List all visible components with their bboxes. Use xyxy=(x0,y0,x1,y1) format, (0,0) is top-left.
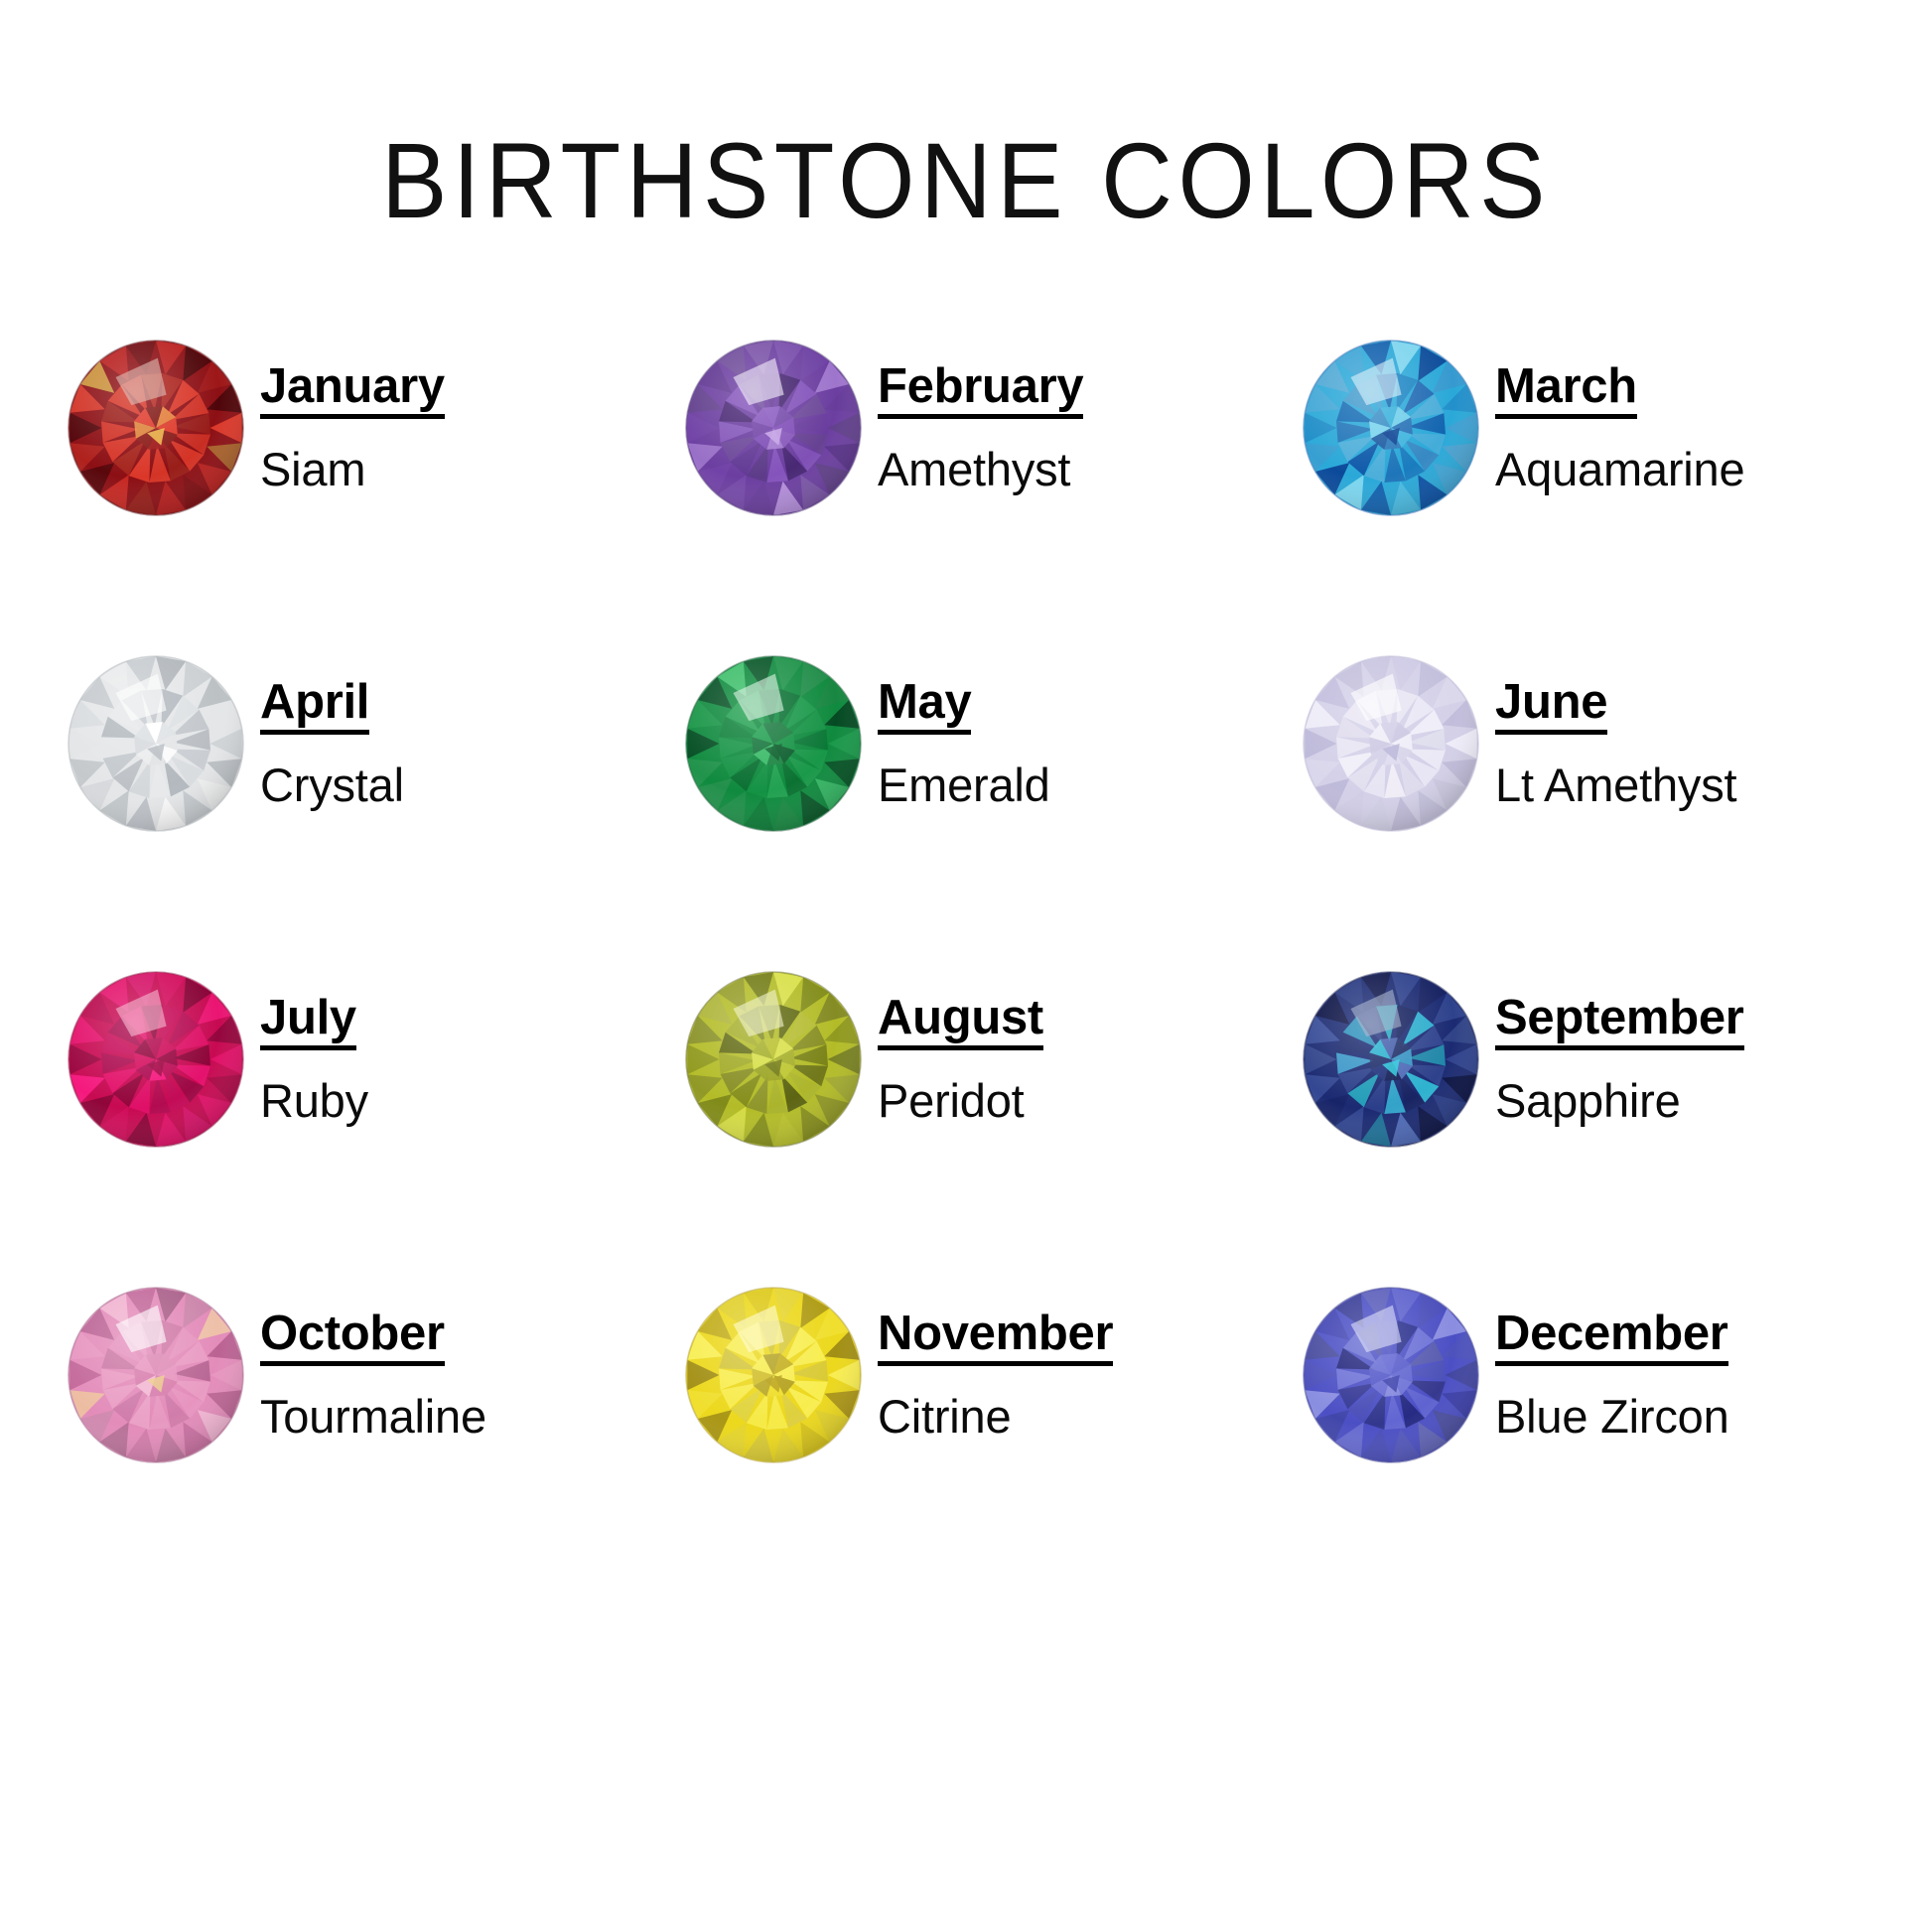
gem-round-brilliant-icon xyxy=(683,653,864,834)
stone-name-label: Blue Zircon xyxy=(1495,1392,1729,1442)
page-title: BIRTHSTONE COLORS xyxy=(77,127,1855,234)
birthstone-labels: DecemberBlue Zircon xyxy=(1495,1309,1729,1442)
birthstone-labels: SeptemberSapphire xyxy=(1495,993,1744,1126)
birthstone-labels: NovemberCitrine xyxy=(878,1309,1113,1442)
gem-round-brilliant-icon xyxy=(1301,338,1481,518)
birthstone-labels: JuneLt Amethyst xyxy=(1495,677,1736,810)
gem-round-brilliant-icon xyxy=(683,338,864,518)
birthstone-cell-april: AprilCrystal xyxy=(40,586,657,901)
stone-name-label: Crystal xyxy=(260,760,404,810)
birthstone-cell-june: JuneLt Amethyst xyxy=(1275,586,1892,901)
birthstone-labels: OctoberTourmaline xyxy=(260,1309,486,1442)
birthstone-labels: MarchAquamarine xyxy=(1495,361,1744,494)
stone-name-label: Tourmaline xyxy=(260,1392,486,1442)
gem-round-brilliant-icon xyxy=(66,969,246,1150)
stone-name-label: Emerald xyxy=(878,760,1050,810)
birthstone-labels: JulyRuby xyxy=(260,993,368,1126)
birthstone-cell-july: JulyRuby xyxy=(40,901,657,1217)
stone-name-label: Ruby xyxy=(260,1076,368,1126)
birthstone-cell-march: MarchAquamarine xyxy=(1275,270,1892,586)
month-label: March xyxy=(1495,361,1637,419)
gem-round-brilliant-icon xyxy=(66,653,246,834)
birthstone-labels: JanuarySiam xyxy=(260,361,445,494)
birthstone-cell-january: JanuarySiam xyxy=(40,270,657,586)
stone-name-label: Citrine xyxy=(878,1392,1113,1442)
birthstone-chart-page: BIRTHSTONE COLORS JanuarySiamFebruaryAme… xyxy=(0,0,1932,1932)
birthstone-labels: AugustPeridot xyxy=(878,993,1043,1126)
gem-round-brilliant-icon xyxy=(1301,1285,1481,1465)
birthstone-cell-december: DecemberBlue Zircon xyxy=(1275,1217,1892,1533)
birthstone-cell-october: OctoberTourmaline xyxy=(40,1217,657,1533)
birthstone-cell-august: AugustPeridot xyxy=(657,901,1275,1217)
gem-round-brilliant-icon xyxy=(66,338,246,518)
gem-round-brilliant-icon xyxy=(683,1285,864,1465)
month-label: April xyxy=(260,677,369,735)
birthstone-labels: FebruaryAmethyst xyxy=(878,361,1083,494)
month-label: August xyxy=(878,993,1043,1050)
stone-name-label: Peridot xyxy=(878,1076,1043,1126)
birthstone-grid: JanuarySiamFebruaryAmethystMarchAquamari… xyxy=(40,270,1892,1533)
month-label: June xyxy=(1495,677,1607,735)
gem-round-brilliant-icon xyxy=(1301,969,1481,1150)
birthstone-labels: AprilCrystal xyxy=(260,677,404,810)
stone-name-label: Siam xyxy=(260,445,445,494)
month-label: January xyxy=(260,361,445,419)
gem-round-brilliant-icon xyxy=(1301,653,1481,834)
stone-name-label: Lt Amethyst xyxy=(1495,760,1736,810)
birthstone-cell-september: SeptemberSapphire xyxy=(1275,901,1892,1217)
birthstone-cell-may: MayEmerald xyxy=(657,586,1275,901)
birthstone-cell-november: NovemberCitrine xyxy=(657,1217,1275,1533)
month-label: October xyxy=(260,1309,445,1366)
month-label: November xyxy=(878,1309,1113,1366)
birthstone-cell-february: FebruaryAmethyst xyxy=(657,270,1275,586)
month-label: July xyxy=(260,993,356,1050)
stone-name-label: Amethyst xyxy=(878,445,1083,494)
stone-name-label: Sapphire xyxy=(1495,1076,1744,1126)
month-label: September xyxy=(1495,993,1744,1050)
gem-round-brilliant-icon xyxy=(683,969,864,1150)
page-title-wrap: BIRTHSTONE COLORS xyxy=(0,127,1932,234)
month-label: December xyxy=(1495,1309,1728,1366)
month-label: February xyxy=(878,361,1083,419)
stone-name-label: Aquamarine xyxy=(1495,445,1744,494)
gem-round-brilliant-icon xyxy=(66,1285,246,1465)
birthstone-labels: MayEmerald xyxy=(878,677,1050,810)
month-label: May xyxy=(878,677,971,735)
